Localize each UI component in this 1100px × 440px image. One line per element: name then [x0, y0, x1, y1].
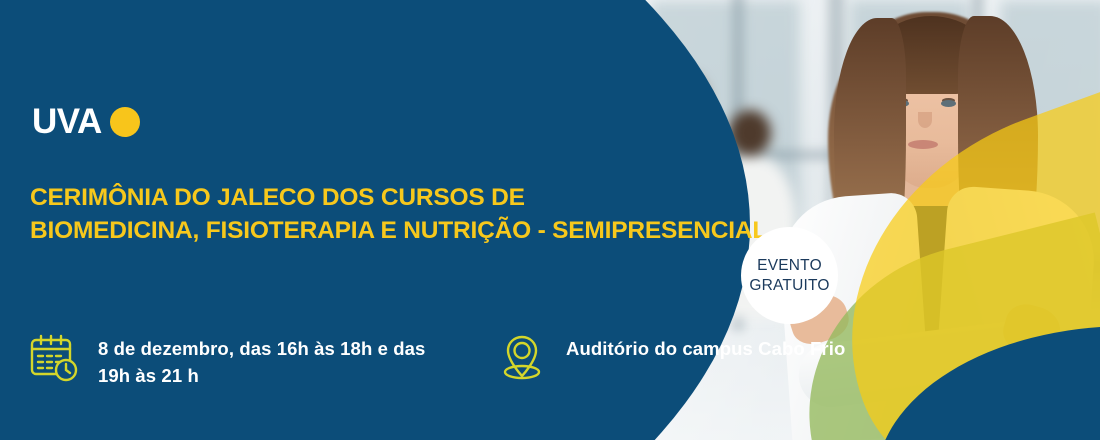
event-location-item: Auditório do campus Cabo Frio	[496, 330, 845, 389]
badge-line-1: EVENTO	[757, 256, 822, 276]
free-event-badge: EVENTO GRATUITO	[741, 227, 838, 324]
event-date-item: 8 de dezembro, das 16h às 18h e das 19h …	[28, 330, 496, 390]
yellow-circle-icon	[110, 107, 140, 137]
event-date-line-2: 19h às 21 h	[98, 363, 425, 390]
map-pin-icon	[496, 332, 548, 389]
event-date-text: 8 de dezembro, das 16h às 18h e das 19h …	[98, 330, 425, 390]
event-details-row: 8 de dezembro, das 16h às 18h e das 19h …	[28, 330, 845, 390]
banner-content: UVA CERIMÔNIA DO JALECO DOS CURSOS DE BI…	[0, 0, 1100, 440]
uva-logo[interactable]: UVA	[32, 104, 140, 139]
headline-line-1: CERIMÔNIA DO JALECO DOS CURSOS DE	[30, 184, 525, 211]
calendar-clock-icon	[28, 332, 80, 389]
logo-wordmark: UVA	[32, 104, 102, 139]
event-date-line-1: 8 de dezembro, das 16h às 18h e das	[98, 338, 425, 359]
badge-line-2: GRATUITO	[749, 276, 829, 296]
page-title: CERIMÔNIA DO JALECO DOS CURSOS DE BIOMED…	[30, 182, 790, 247]
headline-line-2: BIOMEDICINA, FISIOTERAPIA E NUTRIÇÃO - S…	[30, 215, 790, 248]
event-location-text: Auditório do campus Cabo Frio	[566, 330, 845, 363]
event-banner: UVA CERIMÔNIA DO JALECO DOS CURSOS DE BI…	[0, 0, 1100, 440]
